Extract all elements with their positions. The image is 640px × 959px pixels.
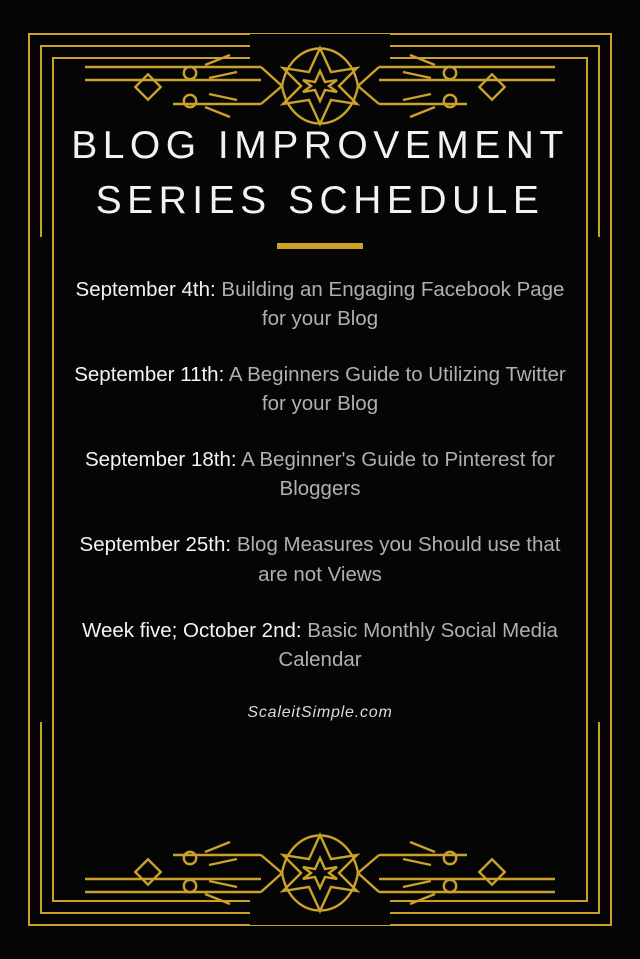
title-line-2: SERIES SCHEDULE: [96, 179, 545, 222]
entry-description: Building an Engaging Facebook Page for y…: [221, 278, 564, 330]
entry-description: A Beginners Guide to Utilizing Twitter f…: [229, 363, 566, 415]
list-item: September 4th: Building an Engaging Face…: [62, 275, 578, 333]
list-item: September 18th: A Beginner's Guide to Pi…: [62, 445, 578, 503]
art-deco-star-ornament-top: [85, 38, 555, 130]
entry-date: September 25th:: [80, 533, 232, 556]
entry-date: September 11th:: [74, 363, 224, 386]
list-item: September 25th: Blog Measures you Should…: [62, 530, 578, 588]
schedule-list: September 4th: Building an Engaging Face…: [62, 275, 578, 674]
title-divider: [277, 243, 363, 249]
entry-date: Week five; October 2nd:: [82, 619, 302, 642]
poster-content: BLOG IMPROVEMENT SERIES SCHEDULE Septemb…: [62, 118, 578, 722]
entry-description: Blog Measures you Should use that are no…: [237, 533, 561, 585]
entry-description: Basic Monthly Social Media Calendar: [278, 619, 558, 671]
site-attribution: ScaleitSimple.com: [62, 704, 578, 722]
entry-description: A Beginner's Guide to Pinterest for Blog…: [241, 448, 555, 500]
art-deco-star-ornament-bottom: [85, 829, 555, 921]
entry-date: September 18th:: [85, 448, 237, 471]
title-line-1: BLOG IMPROVEMENT: [71, 124, 569, 167]
list-item: Week five; October 2nd: Basic Monthly So…: [62, 616, 578, 674]
page-title: BLOG IMPROVEMENT SERIES SCHEDULE: [62, 118, 578, 229]
entry-date: September 4th:: [76, 278, 216, 301]
poster-canvas: BLOG IMPROVEMENT SERIES SCHEDULE Septemb…: [0, 0, 640, 959]
list-item: September 11th: A Beginners Guide to Uti…: [62, 360, 578, 418]
